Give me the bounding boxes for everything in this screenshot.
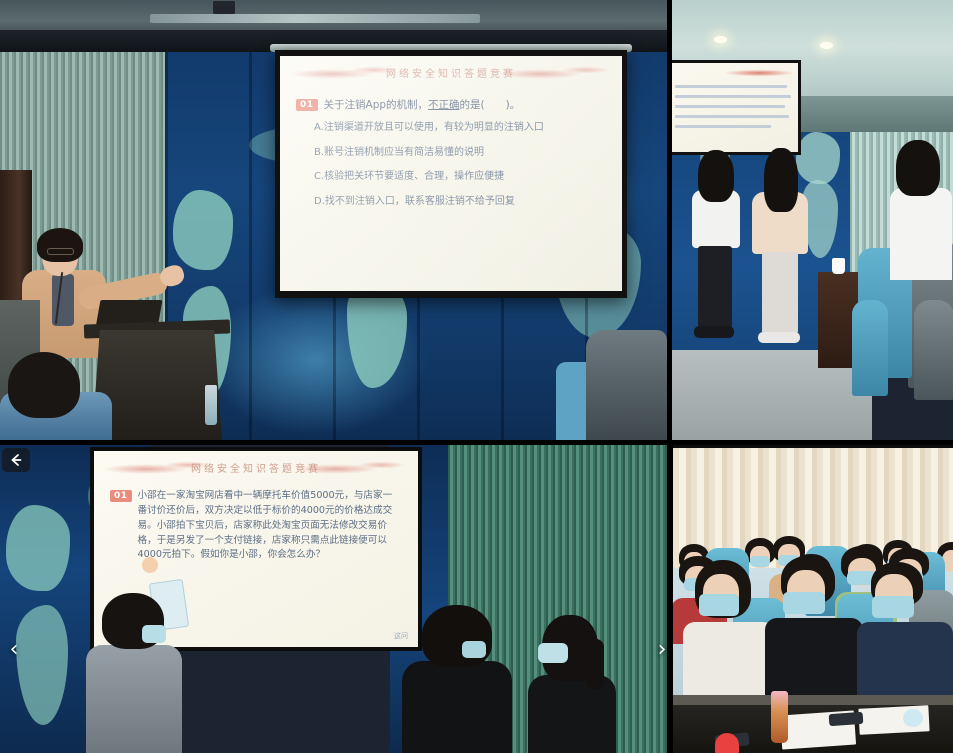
previous-photo-button[interactable]: ‹ [2, 630, 26, 670]
option-d: D.找不到注销入口，联系客服注销不给予回复 [314, 195, 606, 209]
slide-text-line [675, 95, 791, 98]
panel-divider [667, 445, 673, 753]
ceiling-downlight [714, 36, 727, 43]
chevron-left-icon: ‹ [10, 639, 19, 661]
staff-member [890, 140, 952, 280]
photo-panel-bottom-right[interactable] [673, 448, 953, 753]
water-bottle [205, 385, 217, 425]
slide-title: 网络安全知识答题竞赛 [94, 460, 418, 475]
auditorium-seat [914, 300, 953, 400]
presenter-glasses [47, 248, 74, 255]
slide-header: 网络安全知识答题竞赛 [280, 56, 622, 94]
participant-top [402, 661, 512, 753]
option-list: A.注销渠道开放且可以使用，有较为明显的注销入口 B.账号注销机制应当有简洁易懂… [280, 113, 622, 208]
question-suffix: 的是( )。 [460, 99, 521, 111]
water-bottle [903, 709, 923, 727]
participant-shoe [758, 332, 800, 343]
quiz-slide: 网络安全知识答题竞赛 01 关于注销App的机制，不正确的是( )。 A.注销渠… [280, 56, 622, 291]
ceiling-downlight [820, 42, 833, 49]
face-mask [538, 643, 568, 663]
staff-coat [890, 188, 952, 280]
photo-panel-top-left[interactable]: 网络安全知识答题竞赛 01 关于注销App的机制，不正确的是( )。 A.注销渠… [0, 0, 667, 440]
slide-text-line [675, 115, 789, 118]
panel-divider [667, 0, 672, 445]
auditorium-seat [852, 300, 888, 396]
scene-seated-audience [673, 448, 953, 753]
sun-doodle-icon [142, 557, 158, 573]
standing-participant [528, 615, 616, 753]
next-photo-button[interactable]: › [650, 630, 674, 670]
ceiling-projector [213, 1, 235, 14]
quiz-slide [672, 63, 798, 152]
thermos-cup [715, 733, 739, 753]
photo-panel-top-right[interactable] [672, 0, 953, 440]
face-mask [783, 592, 825, 614]
face-mask [699, 594, 739, 616]
question-row: 01 小邵在一家淘宝网店看中一辆摩托车价值5000元，与店家一番讨价还价后，双方… [94, 489, 418, 563]
projection-screen: 网络安全知识答题竞赛 01 关于注销App的机制，不正确的是( )。 A.注销渠… [275, 50, 627, 298]
projection-screen [672, 60, 801, 155]
question-emphasis: 不正确 [428, 99, 460, 111]
staff-hair [896, 140, 940, 196]
map-continent [6, 505, 70, 591]
ceiling-light-strip [150, 14, 480, 23]
scene-scenario-question: 网络安全知识答题竞赛 01 小邵在一家淘宝网店看中一辆摩托车价值5000元，与店… [0, 445, 667, 753]
photo-grid-viewer: 网络安全知识答题竞赛 01 关于注销App的机制，不正确的是( )。 A.注销渠… [0, 0, 953, 753]
question-number-badge: 01 [296, 99, 318, 111]
foreground-audience-head [8, 352, 80, 418]
standing-participant [86, 593, 182, 753]
face-mask [142, 625, 166, 643]
face-mask [872, 596, 914, 618]
face-mask [462, 641, 486, 658]
slide-text-line [675, 105, 785, 108]
audience-member-front [861, 562, 945, 700]
participant-shoe [694, 326, 734, 338]
standing-participant [688, 150, 742, 345]
question-text: 关于注销App的机制，不正确的是( )。 [324, 98, 521, 113]
scene-presenter-podium: 网络安全知识答题竞赛 01 关于注销App的机制，不正确的是( )。 A.注销渠… [0, 0, 667, 440]
participant-hair [764, 148, 798, 212]
participant-top [86, 645, 182, 753]
standing-participant [402, 605, 512, 753]
participant-trousers [762, 252, 798, 334]
participant-hair [698, 150, 734, 202]
chevron-right-icon: › [658, 639, 667, 661]
question-row: 01 关于注销App的机制，不正确的是( )。 [280, 94, 622, 113]
question-prefix: 关于注销App的机制， [324, 99, 429, 111]
audience-member-front [687, 560, 767, 694]
paper-cup [832, 258, 845, 274]
question-number-badge: 01 [110, 490, 132, 502]
mobile-phone [829, 712, 864, 726]
option-c: C.核验把关环节要适度、合理，操作应便捷 [314, 170, 606, 184]
auditorium-seat [586, 330, 667, 440]
option-a: A.注销渠道开放且可以使用，有较为明显的注销入口 [314, 121, 606, 135]
scene-participants-front [672, 0, 953, 440]
panel-divider [0, 440, 953, 445]
audience-member-front [771, 556, 855, 696]
option-b: B.账号注销机制应当有简洁易懂的说明 [314, 146, 606, 160]
slide-header: 网络安全知识答题竞赛 [94, 451, 418, 489]
participant-top [528, 675, 616, 753]
slide-text-line [675, 85, 787, 88]
standing-participant [750, 148, 810, 348]
scenario-body-text: 小邵在一家淘宝网店看中一辆摩托车价值5000元，与店家一番讨价还价后，双方决定以… [138, 489, 400, 563]
slide-title: 网络安全知识答题竞赛 [280, 65, 622, 80]
participant-trousers [698, 246, 732, 328]
slide-text-line [675, 125, 771, 128]
photo-panel-bottom-left[interactable]: 网络安全知识答题竞赛 01 小邵在一家淘宝网店看中一辆摩托车价值5000元，与店… [0, 445, 667, 753]
back-button[interactable] [2, 448, 30, 472]
water-bottle [771, 691, 788, 743]
slide-header-ornament [672, 68, 798, 78]
back-arrow-icon [9, 453, 23, 467]
presenter-hair [37, 228, 83, 262]
